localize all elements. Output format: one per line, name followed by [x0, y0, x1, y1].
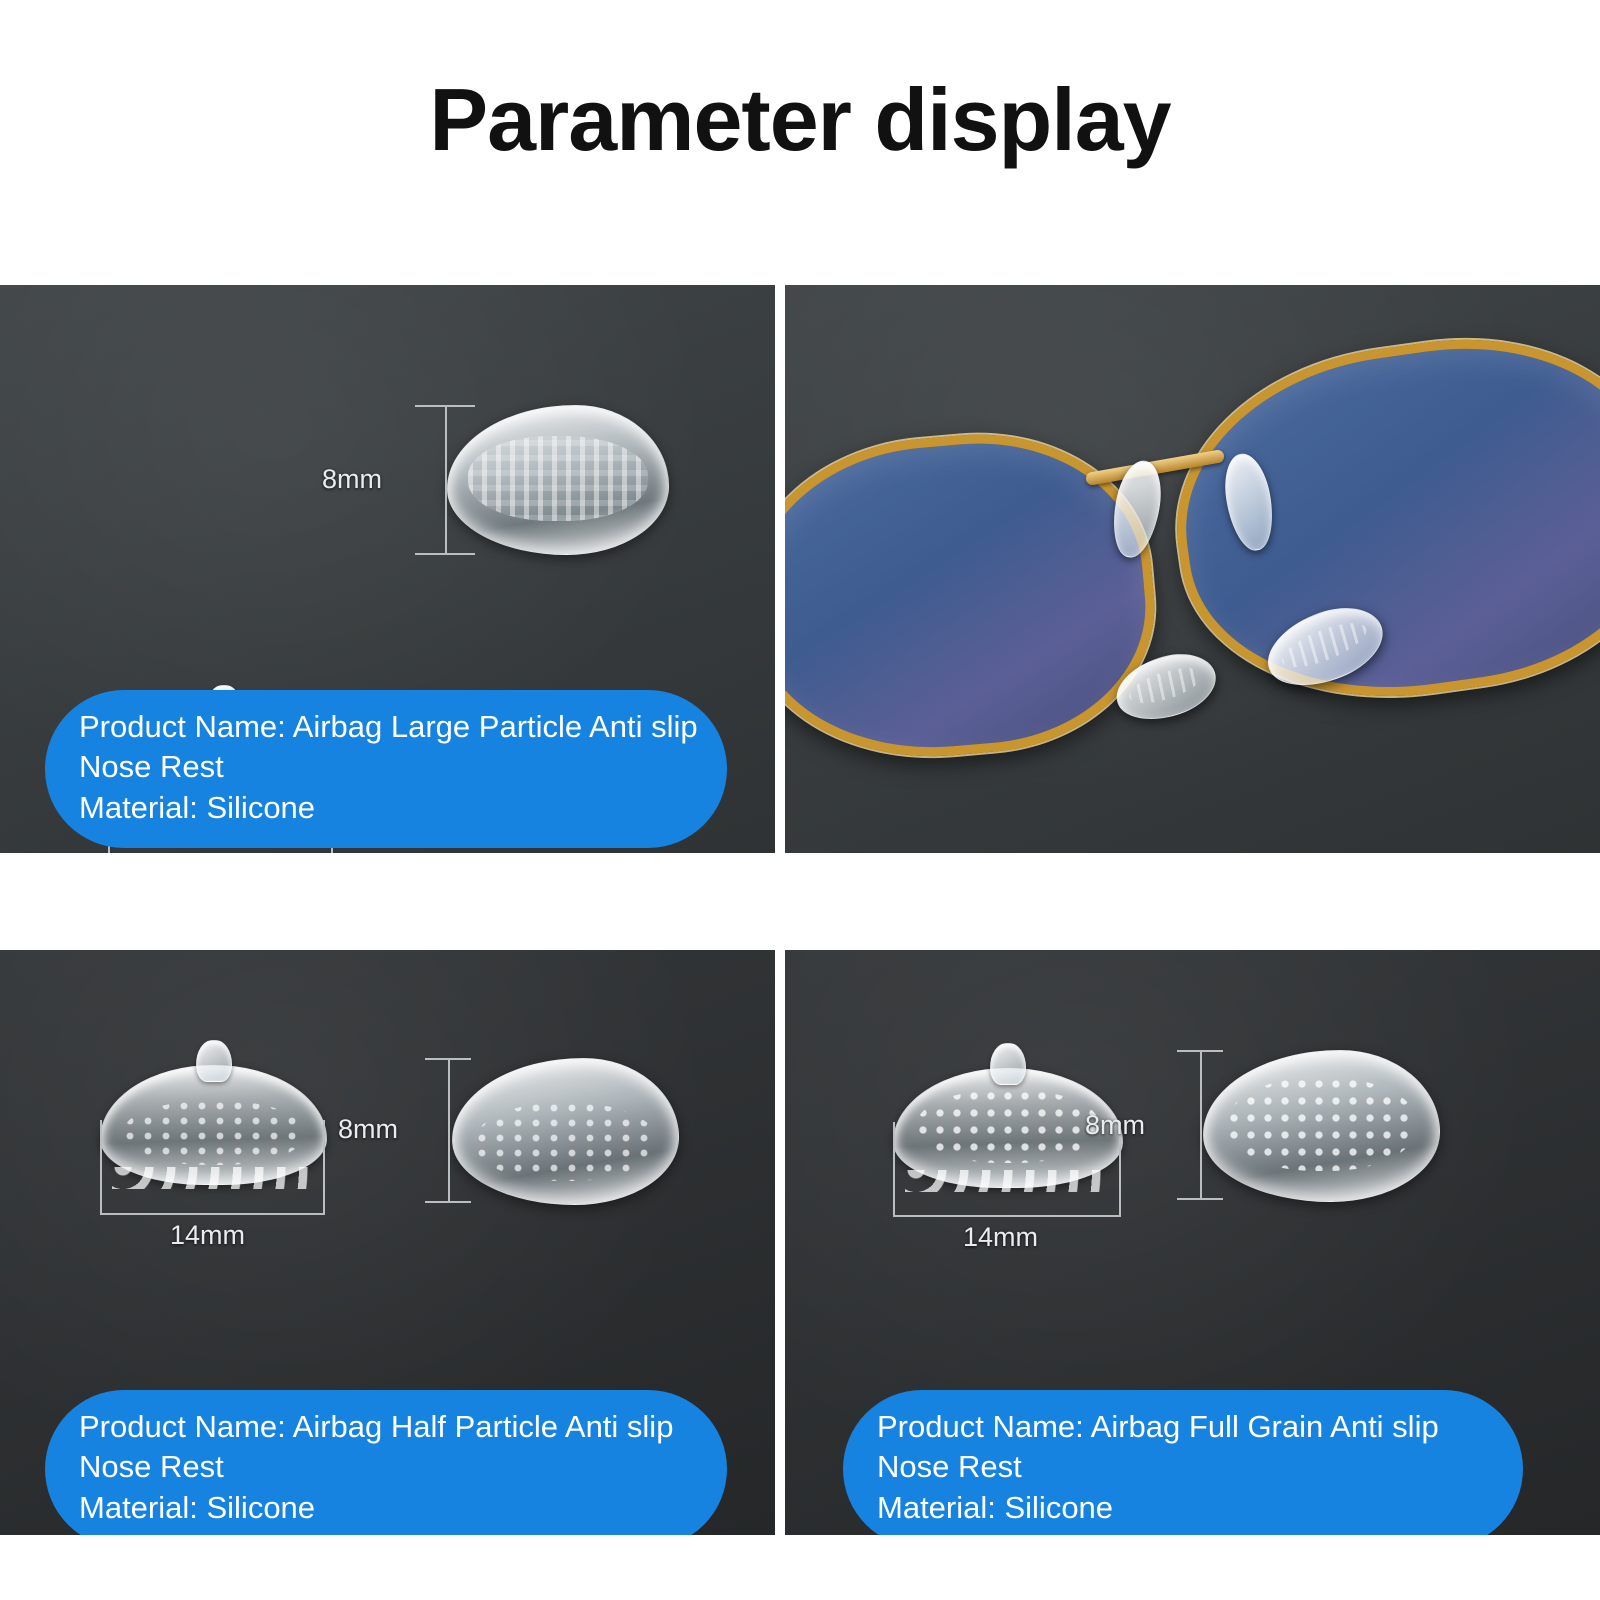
nosepad-texture-lines — [1125, 661, 1206, 710]
caption-product-name-line1: Product Name: Airbag Large Particle Anti… — [79, 707, 693, 747]
caption-material: Material: Silicone — [79, 1488, 693, 1528]
product-caption-full-grain: Product Name: Airbag Full Grain Anti sli… — [843, 1390, 1523, 1535]
dimension-width-label: 14mm — [170, 1220, 245, 1251]
caption-product-name-line2: Nose Rest — [79, 1447, 693, 1487]
nosepad-top-view-half-particle — [452, 1058, 677, 1203]
nosepad-post-icon — [990, 1043, 1026, 1085]
sunglasses-lens-right — [1155, 313, 1600, 726]
dimension-height-callout — [425, 1058, 471, 1203]
dimension-height-label: 8mm — [338, 1114, 398, 1145]
nosepad-post-icon — [196, 1040, 232, 1082]
caption-product-name-line1: Product Name: Airbag Half Particle Anti … — [79, 1407, 693, 1447]
dimension-height-callout — [415, 405, 475, 555]
caption-product-name-line2: Nose Rest — [79, 747, 693, 787]
dimension-width-callout — [100, 1120, 325, 1215]
page-title: Parameter display — [0, 76, 1600, 164]
caption-material: Material: Silicone — [79, 788, 693, 828]
caption-material: Material: Silicone — [877, 1488, 1489, 1528]
nosepad-texture-half-dots — [476, 1103, 656, 1181]
dimension-height-label: 8mm — [322, 464, 382, 495]
nosepad-texture-bars — [468, 436, 648, 522]
product-panel-full-grain: 14mm 8mm Product Name: Airbag Full Grain… — [785, 950, 1600, 1535]
dimension-height-callout — [1177, 1050, 1223, 1200]
nosepad-texture-full-dots — [1228, 1078, 1416, 1171]
dimension-width-label: 14mm — [963, 1222, 1038, 1253]
product-caption-large-particle: Product Name: Airbag Large Particle Anti… — [45, 690, 727, 848]
product-panel-glasses-photo — [785, 285, 1600, 853]
product-panel-grid: 15mm 8mm Product Name: Airbag Large Part… — [0, 285, 1600, 1535]
nosepad-top-view-full-grain — [1203, 1050, 1438, 1200]
product-panel-large-particle: 15mm 8mm Product Name: Airbag Large Part… — [0, 285, 775, 853]
sunglasses-illustration — [785, 285, 1600, 853]
dimension-height-label: 8mm — [1085, 1110, 1145, 1141]
product-caption-half-particle: Product Name: Airbag Half Particle Anti … — [45, 1390, 727, 1535]
nosepad-top-view-large-particle — [447, 405, 667, 553]
product-panel-half-particle: 14mm 8mm Product Name: Airbag Half Parti… — [0, 950, 775, 1535]
caption-product-name-line1: Product Name: Airbag Full Grain Anti sli… — [877, 1407, 1489, 1447]
caption-product-name-line2: Nose Rest — [877, 1447, 1489, 1487]
